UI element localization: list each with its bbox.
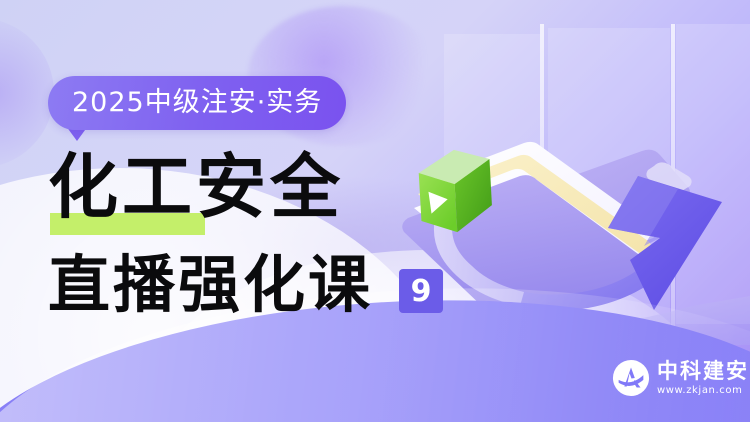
brand-logo: 中科建安 www.zkjan.com [612, 359, 749, 397]
zkjan-circle-logo-icon [612, 359, 650, 397]
episode-number-badge: 9 [399, 269, 443, 313]
course-promo-poster: 2025中级注安·实务 化工安全 直播强化课 9 中科建安 www.zkjan.… [0, 0, 750, 422]
course-category-badge: 2025中级注安·实务 [48, 76, 346, 130]
brand-website: www.zkjan.com [657, 386, 749, 396]
title-line-1: 化工安全 [48, 147, 344, 227]
background-blob-left [0, 18, 54, 168]
brand-logo-text: 中科建安 www.zkjan.com [657, 361, 749, 396]
title-line-2: 直播强化课 [48, 248, 373, 322]
brand-name: 中科建安 [657, 361, 749, 382]
